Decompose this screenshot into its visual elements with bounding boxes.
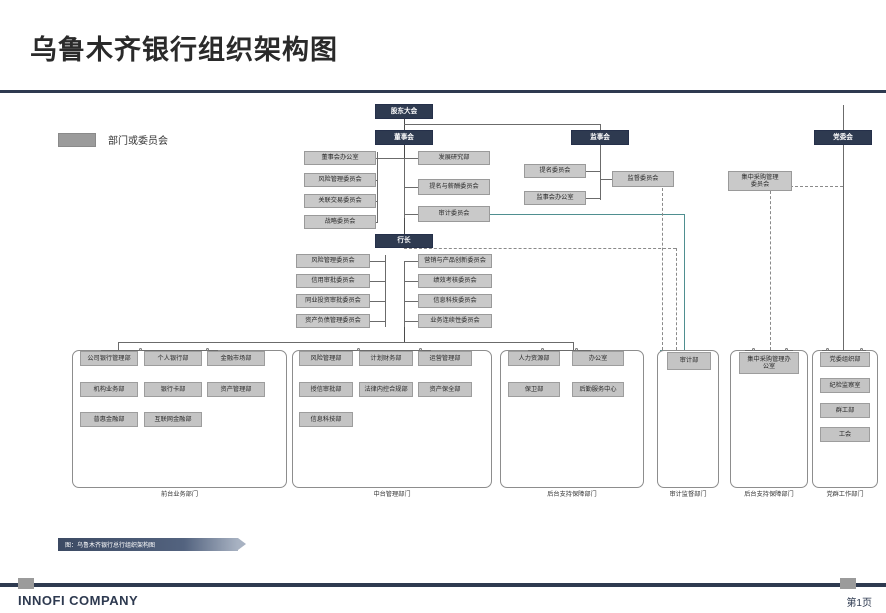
connector-president-right-2: [404, 281, 418, 282]
junction-dot-party-2: [860, 348, 863, 351]
node-asset-liability-management-committee[interactable]: 资产负债管理委员会: [296, 314, 370, 328]
dept-party-organization[interactable]: 党委组织部: [820, 352, 870, 367]
dept-internet-finance[interactable]: 互联网金融部: [144, 412, 202, 427]
connector-president-left-3: [370, 301, 386, 302]
node-procurement-committee[interactable]: 集中采购管理 委员会: [728, 171, 792, 191]
connector-supervisory-spine: [600, 145, 601, 200]
node-nomination-committee[interactable]: 提名委员会: [524, 164, 586, 178]
node-supervision-committee[interactable]: 监督委员会: [612, 171, 674, 187]
node-business-continuity-committee[interactable]: 业务连续性委员会: [418, 314, 492, 328]
caption-text: 图：乌鲁木齐银行总行组织架构图: [58, 540, 155, 549]
legend-swatch-icon: [58, 133, 96, 147]
legend: 部门或委员会: [58, 132, 168, 147]
connector-president-left-1: [370, 261, 386, 262]
group-label-audit: 审计监督部门: [657, 489, 719, 498]
legend-label: 部门或委员会: [108, 132, 168, 147]
node-interbank-investment-approval-committee[interactable]: 同业投资审批委员会: [296, 294, 370, 308]
group-label-middle-office: 中台管理部门: [292, 489, 492, 498]
dept-bank-card[interactable]: 银行卡部: [144, 382, 202, 397]
connector-party-top: [843, 105, 844, 133]
node-related-party-transactions-committee[interactable]: 关联交易委员会: [304, 194, 376, 208]
dept-audit[interactable]: 审计部: [667, 352, 711, 370]
connector-president-left-2: [370, 281, 386, 282]
node-strategy-committee[interactable]: 战略委员会: [304, 215, 376, 229]
connector-president-right-spine: [404, 261, 405, 327]
footer-cap-right: [840, 578, 856, 589]
dept-inclusive-finance[interactable]: 普惠金融部: [80, 412, 138, 427]
connector-president-right-1: [404, 261, 418, 262]
node-board-office[interactable]: 董事会办公室: [304, 151, 376, 165]
group-back-office: [500, 350, 644, 488]
connector-president-to-depts: [404, 327, 405, 342]
junction-dot-front-1: [139, 348, 142, 351]
node-risk-management-committee-board[interactable]: 风险管理委员会: [304, 173, 376, 187]
node-pres-risk-management-committee[interactable]: 风险管理委员会: [296, 254, 370, 268]
dept-risk-management[interactable]: 风险管理部: [299, 351, 353, 366]
node-president[interactable]: 行长: [375, 234, 433, 248]
connector-board-right-spine: [404, 158, 405, 218]
dept-security[interactable]: 保卫部: [508, 382, 560, 397]
dept-asset-management[interactable]: 资产管理部: [207, 382, 265, 397]
node-supervisory-board-office[interactable]: 监事会办公室: [524, 191, 586, 205]
connector-supervision-dashed: [662, 188, 663, 350]
connector-president-left-spine: [385, 255, 386, 327]
node-audit-committee[interactable]: 审计委员会: [418, 206, 490, 222]
footer-cap-left: [18, 578, 34, 589]
group-party-affairs: [812, 350, 878, 488]
dept-discipline-inspection[interactable]: 纪检监察室: [820, 378, 870, 393]
dept-general-office[interactable]: 办公室: [572, 351, 624, 366]
dept-institutional-business[interactable]: 机构业务部: [80, 382, 138, 397]
group-label-party-affairs: 党群工作部门: [812, 489, 878, 498]
dept-planning-finance[interactable]: 计划财务部: [359, 351, 413, 366]
connector-audit-teal-v: [684, 214, 685, 350]
connector-supervision-committee: [600, 179, 612, 180]
connector-board-left-join: [377, 158, 405, 159]
connector-shareholders-supervisory: [404, 124, 600, 125]
node-board-of-directors[interactable]: 董事会: [375, 130, 433, 145]
junction-dot-proc-2: [785, 348, 788, 351]
connector-board-left-spine: [377, 152, 378, 222]
dept-human-resources[interactable]: 人力资源部: [508, 351, 560, 366]
footer-divider: [0, 583, 886, 587]
connector-president-dashed-h: [404, 248, 676, 249]
dept-labor-union[interactable]: 工会: [820, 427, 870, 442]
connector-president-dashed-v: [676, 248, 677, 350]
node-nomination-compensation-committee[interactable]: 提名与薪酬委员会: [418, 179, 490, 195]
footer-brand: INNOFI COMPANY: [18, 593, 138, 608]
connector-dept-bus: [118, 342, 573, 343]
caption-ribbon: 图：乌鲁木齐银行总行组织架构图: [58, 538, 238, 551]
group-label-front-office: 前台业务部门: [72, 489, 287, 498]
dept-corporate-banking[interactable]: 公司银行管理部: [80, 351, 138, 366]
junction-dot-proc-1: [752, 348, 755, 351]
connector-supervisory-2: [586, 198, 601, 199]
dept-asset-preservation[interactable]: 资产保全部: [418, 382, 472, 397]
node-performance-appraisal-committee[interactable]: 绩效考核委员会: [418, 274, 492, 288]
node-information-technology-committee[interactable]: 信息科技委员会: [418, 294, 492, 308]
dept-operations-management[interactable]: 运营管理部: [418, 351, 472, 366]
dept-logistics-service-center[interactable]: 后勤服务中心: [572, 382, 624, 397]
dept-procurement-office[interactable]: 集中采购管理办 公室: [739, 352, 799, 374]
node-shareholders-meeting[interactable]: 股东大会: [375, 104, 433, 119]
connector-president-left-4: [370, 321, 386, 322]
node-party-committee[interactable]: 党委会: [814, 130, 872, 145]
node-credit-approval-committee[interactable]: 信用审批委员会: [296, 274, 370, 288]
junction-dot-party-1: [826, 348, 829, 351]
connector-procurement-dashed-v: [770, 186, 771, 350]
node-development-research-dept[interactable]: 发展研究部: [418, 151, 490, 165]
page-title: 乌鲁木齐银行组织架构图: [30, 28, 338, 67]
dept-financial-markets[interactable]: 金融市场部: [207, 351, 265, 366]
connector-supervisory-1: [586, 171, 601, 172]
dept-personal-banking[interactable]: 个人银行部: [144, 351, 202, 366]
dept-legal-internal-control-compliance[interactable]: 法律内控合规部: [359, 382, 413, 397]
connector-president-right-4: [404, 321, 418, 322]
node-marketing-product-innovation-committee[interactable]: 营销与产品创新委员会: [418, 254, 492, 268]
group-label-procurement-office: 后台支持保障部门: [730, 489, 808, 498]
slide-canvas: 乌鲁木齐银行组织架构图 部门或委员会: [0, 0, 886, 613]
group-label-back-office: 后台支持保障部门: [500, 489, 644, 498]
connector-party-down: [843, 145, 844, 350]
connector-audit-teal-h: [489, 214, 684, 215]
dept-information-technology[interactable]: 信息科技部: [299, 412, 353, 427]
node-supervisory-board[interactable]: 监事会: [571, 130, 629, 145]
connector-president-right-3: [404, 301, 418, 302]
group-audit: [657, 350, 719, 488]
dept-credit-approval[interactable]: 授信审批部: [299, 382, 353, 397]
title-divider: [0, 90, 886, 93]
footer-page-number: 第1页: [846, 594, 872, 609]
dept-mass-work[interactable]: 群工部: [820, 403, 870, 418]
